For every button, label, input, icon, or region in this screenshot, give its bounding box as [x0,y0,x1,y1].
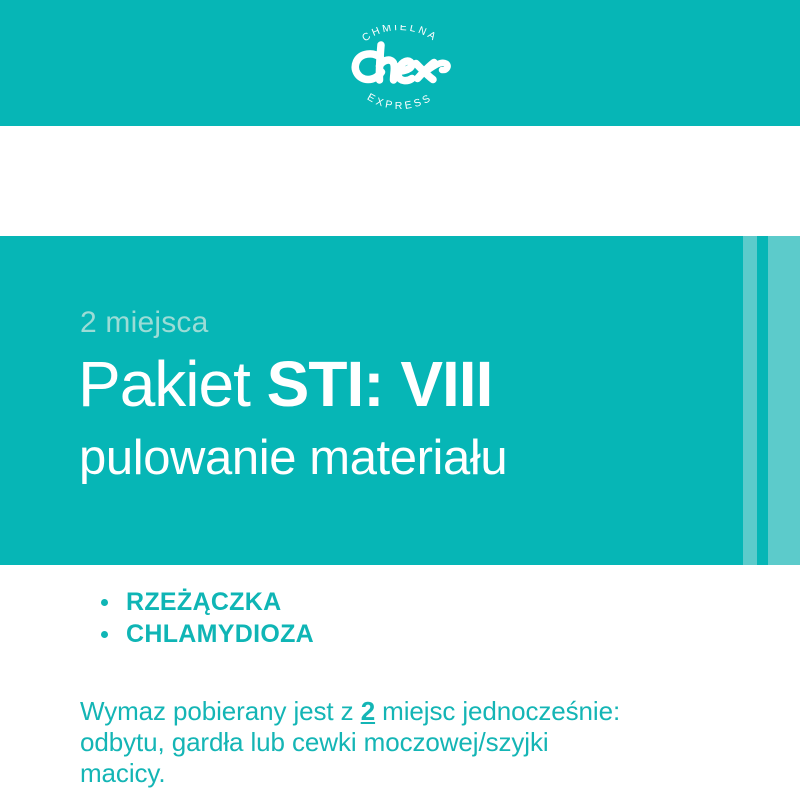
list-item: CHLAMYDIOZA [96,620,314,648]
procedure-note: Wymaz pobierany jest z 2 miejsc jednocze… [80,696,640,789]
promo-card: CHMIELNA EXPR [0,0,800,800]
chex-express-logo[interactable]: CHMIELNA EXPR [334,25,466,109]
note-part-1: Wymaz pobierany jest z [80,696,361,726]
list-item-label: RZEŻĄCZKA [126,588,281,616]
bullet-dot-icon [101,599,108,606]
note-emphasis-count: 2 [361,696,375,726]
accent-stripe-light-left [743,236,757,565]
hero-subtitle: pulowanie materiału [79,430,507,486]
svg-text:EXPRESS: EXPRESS [365,91,435,109]
list-item-label: CHLAMYDIOZA [126,620,314,648]
logo-arc-bottom-text: EXPRESS [365,91,435,109]
hero-title-strong: STI: VIII [267,348,493,420]
hero-title: Pakiet STI: VIII [78,349,492,419]
header-band: CHMIELNA EXPR [0,0,800,126]
list-item: RZEŻĄCZKA [96,588,314,616]
disease-list: RZEŻĄCZKA CHLAMYDIOZA [96,588,314,648]
hero-title-regular: Pakiet [78,348,267,420]
svg-text:CHMIELNA: CHMIELNA [360,25,440,44]
accent-stripe-light-right [768,236,800,565]
accent-stripe-dark [757,236,768,565]
hero-eyebrow: 2 miejsca [80,306,209,340]
logo-arc-top-text: CHMIELNA [360,25,440,44]
bullet-dot-icon [101,631,108,638]
logo-wordmark [355,45,447,81]
